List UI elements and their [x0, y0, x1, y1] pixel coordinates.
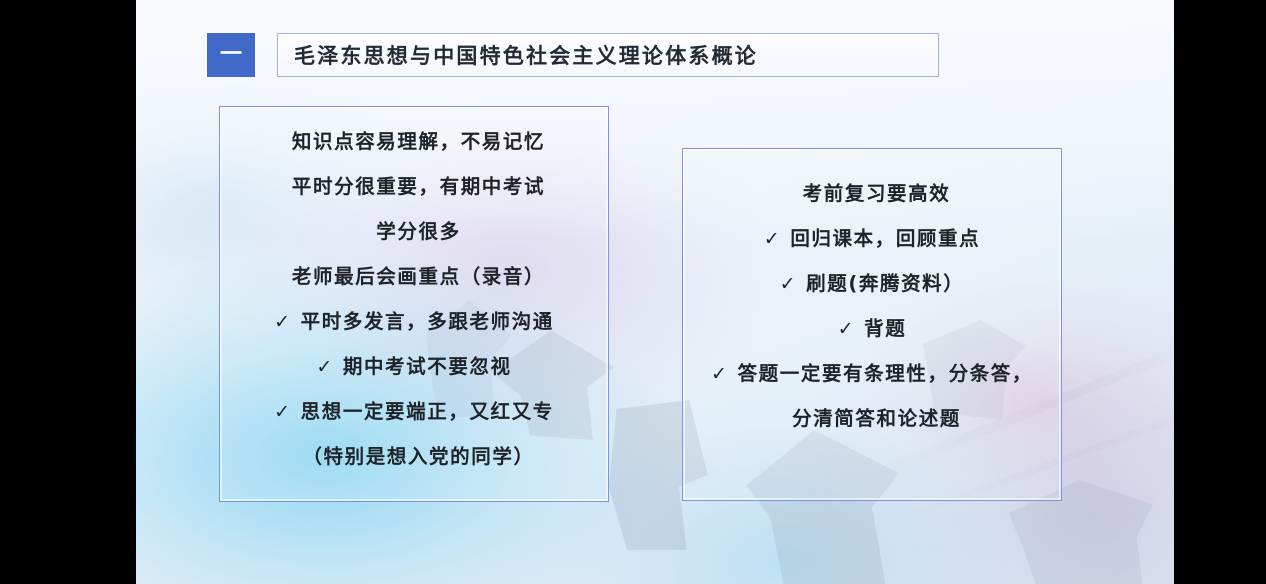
check-icon: ✓	[764, 217, 782, 262]
list-item-text: 答题一定要有条理性，分条答，	[738, 351, 1033, 396]
title-box: 毛泽东思想与中国特色社会主义理论体系概论	[277, 33, 939, 77]
list-item-text: （特别是想入党的同学）	[302, 434, 534, 479]
list-item: ✓ 平时多发言，多跟老师沟通	[230, 299, 598, 344]
section-number-badge: 一	[207, 33, 255, 77]
video-stage: 一 毛泽东思想与中国特色社会主义理论体系概论 知识点容易理解，不易记忆 平时分很…	[0, 0, 1266, 584]
check-icon: ✓	[838, 307, 856, 352]
list-item: ✓ 刷题(奔腾资料）	[693, 261, 1051, 306]
list-item: ✓ 期中考试不要忽视	[230, 344, 598, 389]
list-item: ✓ 背题	[693, 306, 1051, 351]
list-item: ✓ 思想一定要端正，又红又专	[230, 389, 598, 434]
check-icon: ✓	[274, 300, 292, 345]
left-content-panel: 知识点容易理解，不易记忆 平时分很重要，有期中考试 学分很多 老师最后会画重点（…	[219, 106, 609, 502]
check-icon: ✓	[780, 262, 798, 307]
list-item-text: 分清简答和论述题	[792, 396, 961, 441]
list-item-text: 回归课本，回顾重点	[790, 216, 980, 261]
slide-canvas: 一 毛泽东思想与中国特色社会主义理论体系概论 知识点容易理解，不易记忆 平时分很…	[136, 0, 1174, 584]
left-panel-lines: 知识点容易理解，不易记忆 平时分很重要，有期中考试 学分很多 老师最后会画重点（…	[230, 119, 598, 479]
right-content-panel: 考前复习要高效 ✓ 回归课本，回顾重点 ✓ 刷题(奔腾资料） ✓ 背题 ✓ 答题…	[682, 148, 1062, 501]
list-item-text: 平时分很重要，有期中考试	[292, 164, 545, 209]
list-item-text: 思想一定要端正，又红又专	[301, 389, 554, 434]
list-item: 学分很多	[230, 209, 598, 254]
list-item-text: 平时多发言，多跟老师沟通	[301, 299, 554, 344]
list-item-text: 考前复习要高效	[803, 171, 951, 216]
list-item: ✓ 回归课本，回顾重点	[693, 216, 1051, 261]
list-item-text: 知识点容易理解，不易记忆	[292, 119, 545, 164]
list-item: 平时分很重要，有期中考试	[230, 164, 598, 209]
page-title: 毛泽东思想与中国特色社会主义理论体系概论	[294, 40, 758, 70]
list-item: （特别是想入党的同学）	[230, 434, 598, 479]
list-item: 知识点容易理解，不易记忆	[230, 119, 598, 164]
slide-header: 一 毛泽东思想与中国特色社会主义理论体系概论	[207, 33, 939, 77]
list-item-text: 期中考试不要忽视	[343, 344, 512, 389]
list-item-text: 刷题(奔腾资料）	[806, 261, 964, 306]
list-item-text: 学分很多	[376, 209, 460, 254]
check-icon: ✓	[316, 345, 334, 390]
check-icon: ✓	[711, 352, 729, 397]
list-item-text: 背题	[864, 306, 906, 351]
list-item: ✓ 答题一定要有条理性，分条答，	[693, 351, 1051, 396]
check-icon: ✓	[274, 390, 292, 435]
right-panel-lines: 考前复习要高效 ✓ 回归课本，回顾重点 ✓ 刷题(奔腾资料） ✓ 背题 ✓ 答题…	[693, 171, 1051, 441]
list-item: 考前复习要高效	[693, 171, 1051, 216]
list-item: 老师最后会画重点（录音）	[230, 254, 598, 299]
list-item: 分清简答和论述题	[693, 396, 1051, 441]
list-item-text: 老师最后会画重点（录音）	[292, 254, 545, 299]
